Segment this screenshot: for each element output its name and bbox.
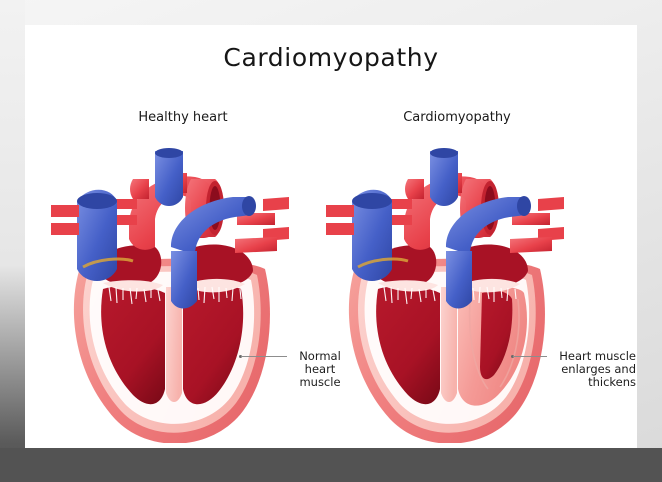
vena-cava-left-stub-b <box>326 223 354 235</box>
heart-illustration-healthy <box>37 143 312 443</box>
brachiocephalic-branch-left <box>405 179 424 199</box>
superior-vena-cava <box>155 151 183 206</box>
viewer-bottom-bar <box>0 448 662 482</box>
presentation-slide: Cardiomyopathy Healthy heart Cardiomyopa… <box>25 25 637 448</box>
viewer-left-margin <box>0 0 25 482</box>
svc-lumen <box>155 148 183 158</box>
inferior-vena-cava <box>171 251 197 309</box>
pulmonary-vein-lumen <box>517 196 531 216</box>
inferior-vena-cava <box>446 251 472 309</box>
vena-cava-left-stub-b <box>51 223 79 235</box>
svc-lumen <box>430 148 458 158</box>
right-pulmonary-veins <box>235 237 277 253</box>
pulmonary-vein-lumen <box>242 196 256 216</box>
page-title: Cardiomyopathy <box>25 43 637 72</box>
vena-cava-left-lumen <box>77 193 117 209</box>
superior-vena-cava <box>430 151 458 206</box>
vena-cava-left-stub-a <box>326 205 354 217</box>
vena-cava-left-stub-a <box>51 205 79 217</box>
annotation-normal-heart-muscle: Normal heart muscle <box>290 350 350 390</box>
leader-line-healthy <box>241 356 287 357</box>
annotation-heart-muscle-thickens: Heart muscle enlarges and thickens <box>550 350 636 390</box>
right-pulmonary-veins <box>510 237 552 253</box>
panel-caption-healthy: Healthy heart <box>78 110 288 125</box>
annotation-line: muscle <box>290 376 350 389</box>
vena-cava-left-lumen <box>352 193 392 209</box>
brachiocephalic-branch-left <box>130 179 149 199</box>
annotation-line: thickens <box>550 376 636 389</box>
right-artery-stub-a <box>538 197 564 211</box>
leader-line-cardiomyopathy <box>513 356 547 357</box>
heart-illustration-cardiomyopathy <box>312 143 587 443</box>
right-artery-stub-a <box>263 197 289 211</box>
panel-caption-cardiomyopathy: Cardiomyopathy <box>352 110 562 125</box>
